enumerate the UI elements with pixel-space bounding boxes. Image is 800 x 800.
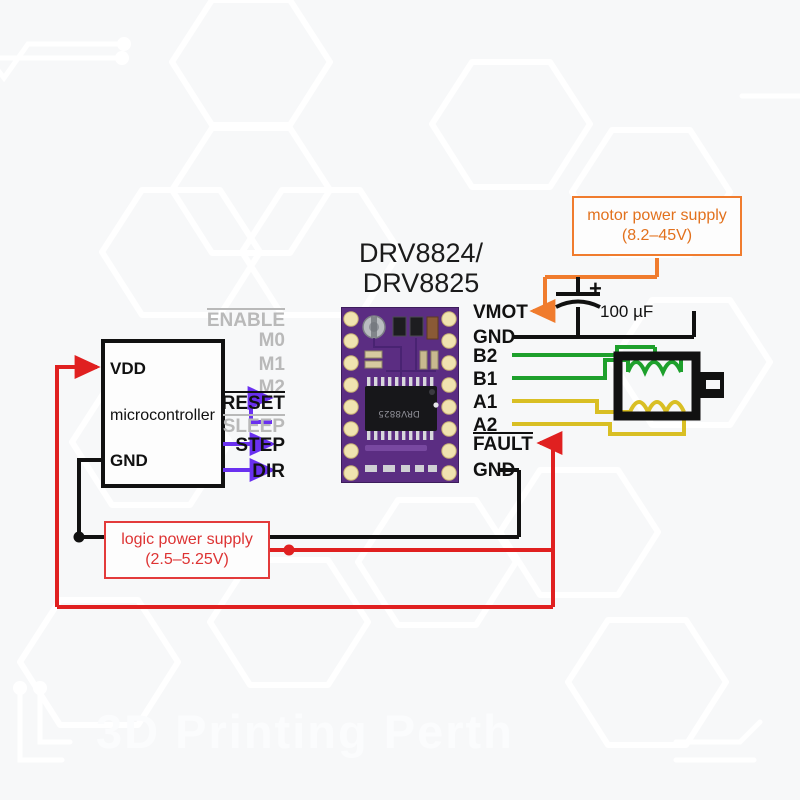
pin-label-b2: B2 bbox=[473, 347, 497, 366]
pin-label-vmot: VMOT bbox=[473, 303, 528, 322]
pin-label-gnd-top: GND bbox=[473, 328, 515, 347]
mcu-vdd-label: VDD bbox=[110, 360, 146, 377]
motor-supply-line-2: (8.2–45V) bbox=[622, 226, 692, 246]
logic-supply-line-2: (2.5–5.25V) bbox=[145, 550, 229, 570]
pin-label-fault: FAULT bbox=[473, 432, 533, 454]
logic-power-supply-box: logic power supply (2.5–5.25V) bbox=[104, 521, 270, 579]
capacitor-polarity-label: + bbox=[589, 278, 602, 300]
pin-label-a1: A1 bbox=[473, 393, 497, 412]
ic-silkscreen: DRV8825 bbox=[378, 408, 420, 418]
pin-label-m0: M0 bbox=[175, 331, 285, 350]
logic-supply-line-1: logic power supply bbox=[121, 530, 253, 550]
pin-label-m1: M1 bbox=[175, 355, 285, 374]
pin-label-step: STEP bbox=[175, 436, 285, 455]
pin-label-b1: B1 bbox=[473, 370, 497, 389]
page-title: DRV8824/ DRV8825 bbox=[336, 238, 506, 298]
mcu-gnd-label: GND bbox=[110, 452, 148, 469]
mcu-name-label: microcontroller bbox=[110, 408, 215, 424]
title-line-2: DRV8825 bbox=[336, 268, 506, 298]
title-line-1: DRV8824/ bbox=[336, 238, 506, 268]
drv8825-board: DRV8825 bbox=[341, 307, 459, 483]
motor-shaft bbox=[700, 372, 724, 398]
pin-label-dir: DIR bbox=[175, 462, 285, 481]
watermark-text: 3D Printing Perth bbox=[96, 704, 514, 759]
capacitor-value-label: 100 µF bbox=[600, 303, 653, 320]
motor-supply-line-1: motor power supply bbox=[587, 206, 727, 226]
pin-label-gnd-bottom: GND bbox=[473, 461, 515, 480]
motor-power-supply-box: motor power supply (8.2–45V) bbox=[572, 196, 742, 256]
diagram-canvas: DRV8825 DRV8824/ DRV8825 ENABLE M0 M1 M2… bbox=[0, 0, 800, 800]
pin-label-enable: ENABLE bbox=[175, 308, 285, 330]
